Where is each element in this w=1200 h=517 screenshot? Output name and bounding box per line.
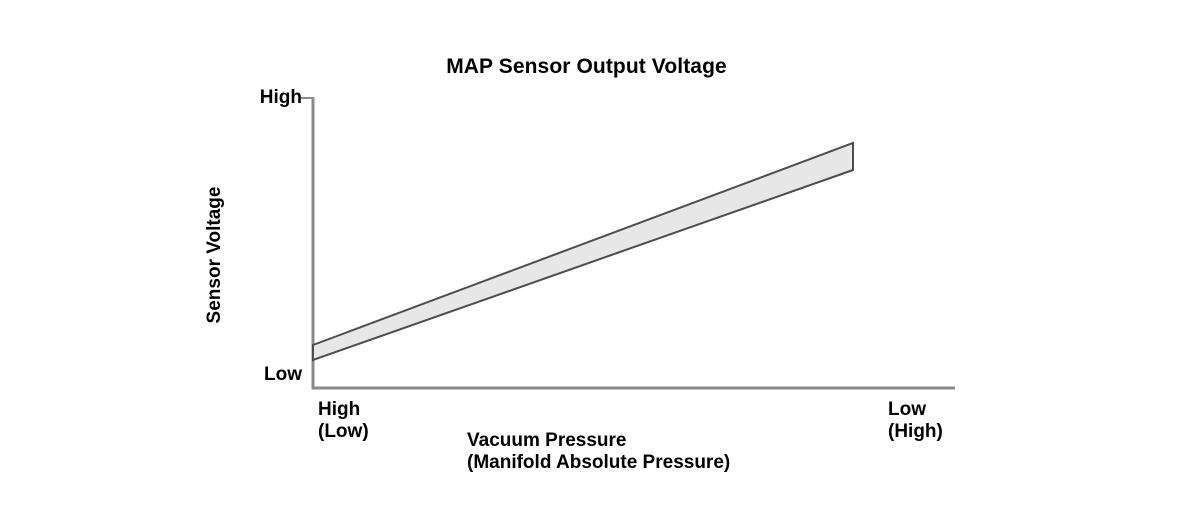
y-tick-label-high: High bbox=[260, 87, 302, 109]
x-tick-label-left-line2: (Low) bbox=[318, 421, 369, 442]
y-tick-label-low: Low bbox=[264, 364, 302, 386]
y-axis-title: Sensor Voltage bbox=[204, 187, 226, 324]
x-tick-label-right-line1: Low bbox=[888, 399, 926, 420]
x-tick-label-left: High (Low) bbox=[318, 399, 369, 444]
chart-figure: MAP Sensor Output Voltage High Low Senso… bbox=[0, 0, 1200, 517]
x-axis-title-line2: (Manifold Absolute Pressure) bbox=[467, 452, 730, 474]
x-tick-label-left-line1: High bbox=[318, 399, 360, 420]
x-tick-label-right-line2: (High) bbox=[888, 421, 943, 442]
sensor-output-band bbox=[313, 143, 853, 360]
x-tick-label-right: Low (High) bbox=[888, 399, 943, 444]
x-axis-title-line1: Vacuum Pressure bbox=[467, 430, 626, 451]
x-axis-title: Vacuum Pressure (Manifold Absolute Press… bbox=[467, 430, 730, 475]
